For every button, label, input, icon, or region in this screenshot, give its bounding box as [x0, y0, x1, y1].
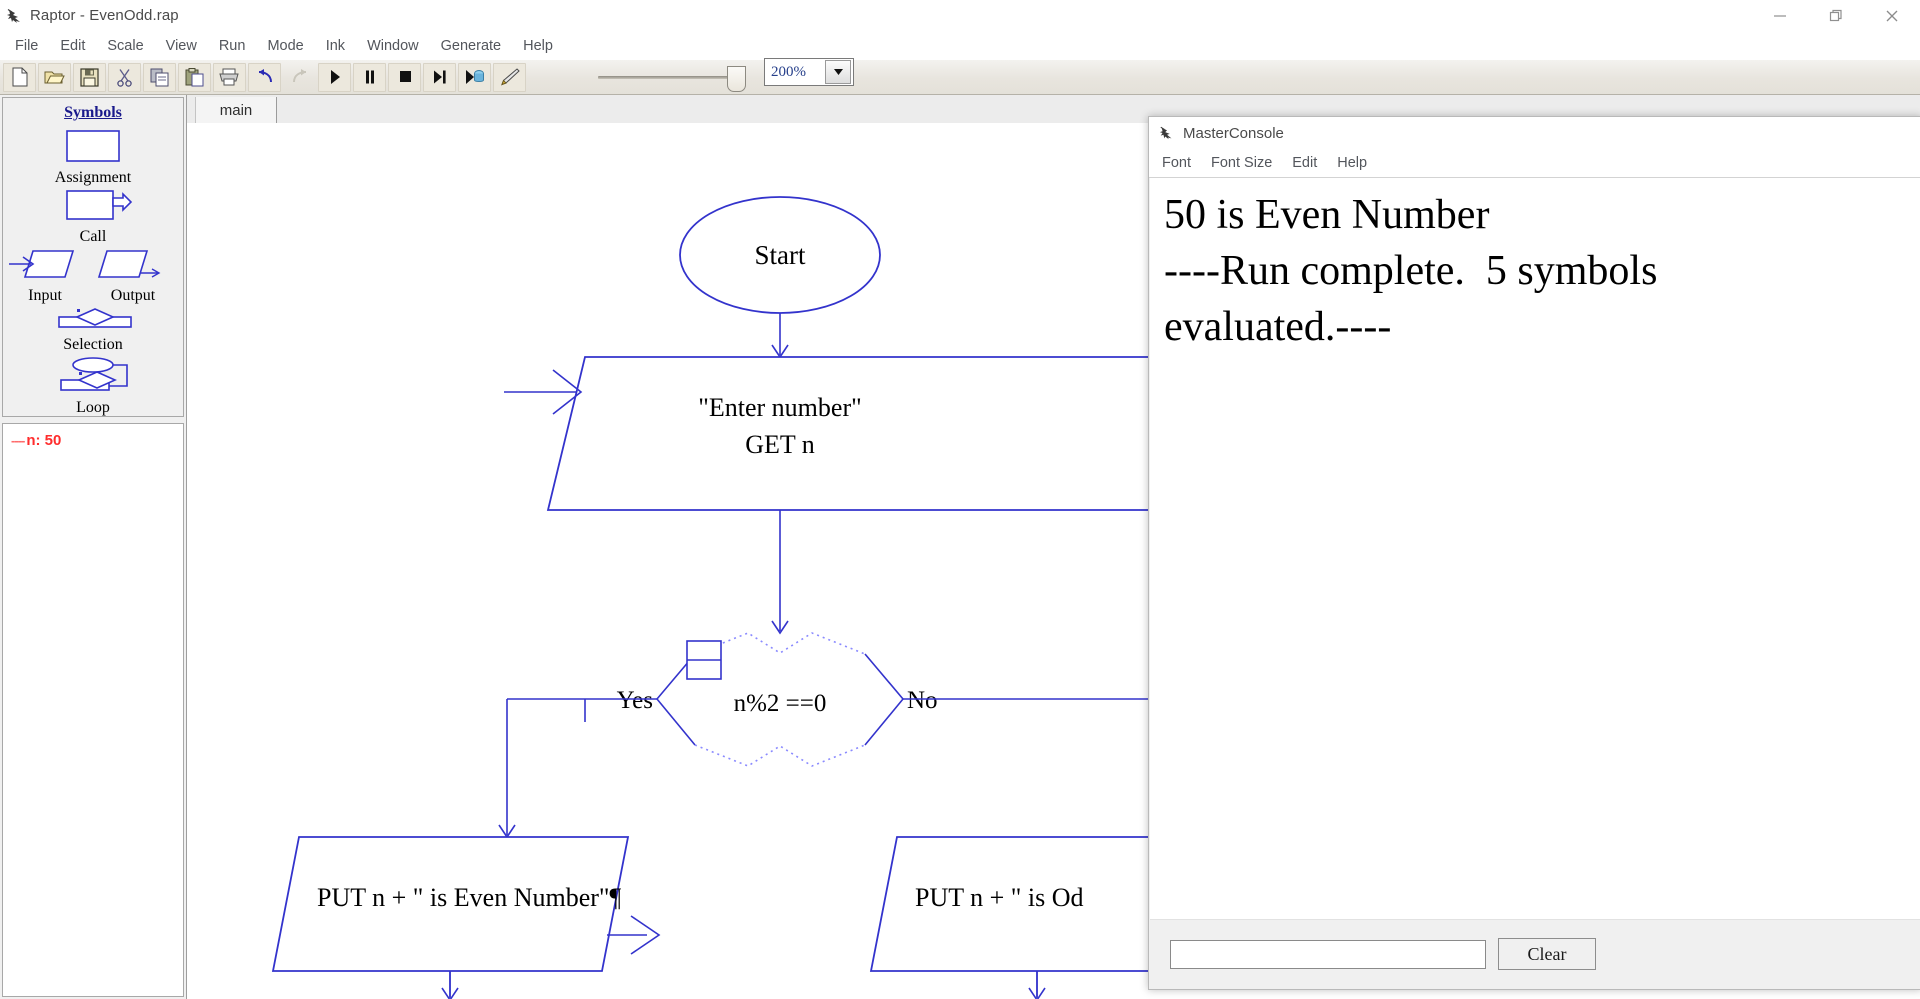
variable-prefix: ----: [11, 433, 24, 448]
edge-input-to-decision: [772, 510, 788, 633]
run-to-cursor-icon[interactable]: [458, 63, 491, 92]
menu-run[interactable]: Run: [208, 35, 257, 57]
run-play-icon[interactable]: [318, 63, 351, 92]
open-folder-icon[interactable]: [38, 63, 71, 92]
masterconsole-footer: Clear: [1150, 919, 1920, 988]
minimize-icon[interactable]: [1752, 0, 1808, 31]
flow-decision-yes-label: Yes: [617, 687, 653, 714]
console-menu-font[interactable]: Font: [1152, 153, 1201, 173]
symbol-selection[interactable]: Selection: [3, 307, 183, 354]
menu-generate[interactable]: Generate: [430, 35, 512, 57]
zoom-slider-thumb[interactable]: [727, 66, 746, 92]
menu-help[interactable]: Help: [512, 35, 564, 57]
symbols-palette: Symbols Assignment Call: [2, 97, 184, 417]
window-controls: [1752, 0, 1920, 31]
menu-mode[interactable]: Mode: [256, 35, 314, 57]
raptor-application-window: Raptor - EvenOdd.rap File Edit Scale: [0, 0, 1920, 999]
cut-scissors-icon[interactable]: [108, 63, 141, 92]
symbol-input-output-row: Input Output: [3, 248, 183, 305]
symbol-assignment-label: Assignment: [3, 169, 183, 187]
masterconsole-window[interactable]: MasterConsole Font Font Size Edit Help 5…: [1148, 116, 1920, 990]
flow-decision-no-label: No: [907, 687, 938, 714]
console-output-line: 50 is Even Number: [1164, 188, 1906, 244]
menu-edit[interactable]: Edit: [49, 35, 96, 57]
edge-start-to-input: [772, 313, 788, 357]
console-menu-help[interactable]: Help: [1327, 153, 1377, 173]
save-disk-icon[interactable]: [73, 63, 106, 92]
restore-icon[interactable]: [1808, 0, 1864, 31]
left-panel: Symbols Assignment Call: [0, 95, 187, 999]
new-icon[interactable]: [3, 63, 36, 92]
undo-icon[interactable]: [248, 63, 281, 92]
zoom-slider[interactable]: [596, 60, 751, 94]
console-menu-font-size[interactable]: Font Size: [1201, 153, 1282, 173]
menu-window[interactable]: Window: [356, 35, 430, 57]
menu-view[interactable]: View: [155, 35, 208, 57]
clear-button[interactable]: Clear: [1498, 938, 1596, 970]
copy-icon[interactable]: [143, 63, 176, 92]
toolbar: [0, 60, 1920, 95]
menubar: File Edit Scale View Run Mode Ink Window…: [0, 31, 1920, 61]
flow-node-start[interactable]: Start: [680, 197, 880, 313]
step-icon[interactable]: [423, 63, 456, 92]
flow-node-input-line2: GET n: [745, 430, 815, 459]
window-title: Raptor - EvenOdd.rap: [30, 7, 179, 24]
redo-icon: [283, 63, 316, 92]
raptor-bird-icon: [6, 7, 24, 25]
masterconsole-output: 50 is Even Number ----Run complete. 5 sy…: [1150, 178, 1920, 920]
breakpoint-marker-icon[interactable]: [687, 641, 721, 679]
edge-merge-bar: [442, 971, 1045, 999]
menu-ink[interactable]: Ink: [315, 35, 356, 57]
edge-yes-branch: [499, 699, 657, 837]
zoom-level-combobox[interactable]: 200%: [764, 58, 854, 86]
symbol-assignment[interactable]: Assignment: [3, 128, 183, 187]
symbol-selection-label: Selection: [3, 336, 183, 354]
console-output-line: ----Run complete. 5 symbols: [1164, 244, 1906, 300]
symbol-call-label: Call: [3, 228, 183, 246]
variable-value-text: n: 50: [26, 432, 61, 449]
chevron-down-icon[interactable]: [825, 60, 851, 84]
pause-icon[interactable]: [353, 63, 386, 92]
variable-row[interactable]: ---- n: 50: [11, 432, 183, 449]
titlebar: Raptor - EvenOdd.rap: [0, 0, 1920, 31]
symbol-call[interactable]: Call: [3, 189, 183, 246]
flow-node-input-line1: "Enter number": [698, 393, 861, 422]
flow-node-input[interactable]: "Enter number" GET n: [504, 357, 1224, 510]
console-menu-edit[interactable]: Edit: [1282, 153, 1327, 173]
zoom-slider-track: [598, 76, 738, 79]
zoom-level-value: 200%: [765, 64, 825, 81]
symbol-input-label[interactable]: Input: [3, 287, 87, 305]
menu-scale[interactable]: Scale: [96, 35, 154, 57]
symbols-palette-title: Symbols: [3, 104, 183, 122]
menu-file[interactable]: File: [4, 35, 49, 57]
symbol-output-label[interactable]: Output: [87, 287, 179, 305]
masterconsole-menubar: Font Font Size Edit Help: [1149, 149, 1920, 178]
raptor-bird-icon: [1159, 125, 1175, 141]
flow-node-start-label: Start: [755, 240, 806, 270]
masterconsole-title-text: MasterConsole: [1183, 125, 1284, 142]
pen-icon[interactable]: [493, 63, 526, 92]
flow-node-decision[interactable]: n%2 ==0 Yes No: [617, 633, 938, 766]
symbol-input-shape: [9, 251, 73, 277]
print-icon[interactable]: [213, 63, 246, 92]
masterconsole-titlebar: MasterConsole: [1149, 117, 1920, 149]
symbol-loop-label: Loop: [3, 399, 183, 417]
stop-icon[interactable]: [388, 63, 421, 92]
variables-panel: ---- n: 50: [2, 423, 184, 997]
symbol-loop[interactable]: Loop: [3, 356, 183, 417]
tab-main[interactable]: main: [195, 97, 277, 123]
console-input-field[interactable]: [1170, 940, 1486, 969]
close-icon[interactable]: [1864, 0, 1920, 31]
console-output-line: evaluated.----: [1164, 300, 1906, 356]
symbol-output-shape: [99, 251, 159, 277]
paste-icon[interactable]: [178, 63, 211, 92]
flow-node-decision-label: n%2 ==0: [734, 690, 827, 717]
